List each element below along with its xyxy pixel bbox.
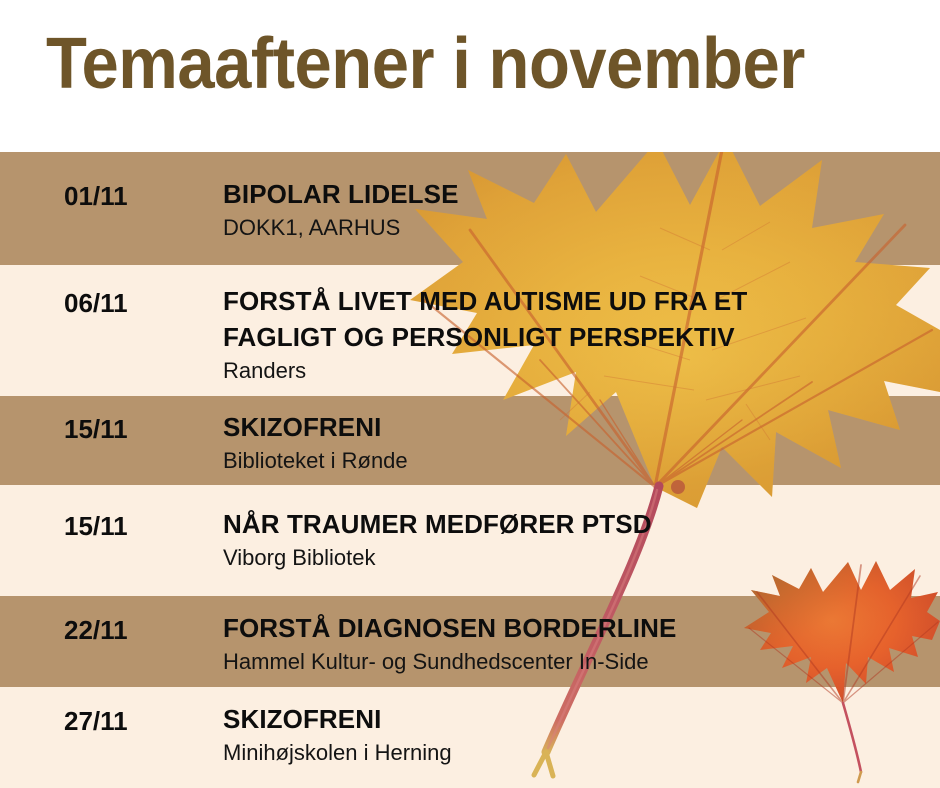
event-title: FORSTÅ DIAGNOSEN BORDERLINE (223, 610, 923, 646)
event-venue: Hammel Kultur- og Sundhedscenter In-Side (223, 647, 923, 677)
event-date: 15/11 (64, 414, 128, 445)
event-details: FORSTÅ LIVET MED AUTISME UD FRA ET FAGLI… (223, 283, 923, 386)
event-details: SKIZOFRENI Minihøjskolen i Herning (223, 701, 923, 768)
event-title: NÅR TRAUMER MEDFØRER PTSD (223, 506, 923, 542)
event-venue: DOKK1, AARHUS (223, 213, 923, 243)
event-details: FORSTÅ DIAGNOSEN BORDERLINE Hammel Kultu… (223, 610, 923, 677)
event-date: 06/11 (64, 288, 128, 319)
event-date: 27/11 (64, 706, 128, 737)
event-date: 22/11 (64, 615, 128, 646)
header-band: Temaaftener i november (0, 0, 940, 152)
event-title: SKIZOFRENI (223, 701, 923, 737)
event-venue: Viborg Bibliotek (223, 543, 923, 573)
event-date: 15/11 (64, 511, 128, 542)
poster-canvas: Temaaftener i november 01/11 BIPOLAR LID… (0, 0, 940, 788)
event-details: SKIZOFRENI Biblioteket i Rønde (223, 409, 923, 476)
event-title: FORSTÅ LIVET MED AUTISME UD FRA ET FAGLI… (223, 283, 923, 355)
event-venue: Randers (223, 356, 923, 386)
event-title: BIPOLAR LIDELSE (223, 176, 923, 212)
event-date: 01/11 (64, 181, 128, 212)
event-details: BIPOLAR LIDELSE DOKK1, AARHUS (223, 176, 923, 243)
page-title: Temaaftener i november (46, 26, 805, 102)
event-title: SKIZOFRENI (223, 409, 923, 445)
event-details: NÅR TRAUMER MEDFØRER PTSD Viborg Bibliot… (223, 506, 923, 573)
event-venue: Biblioteket i Rønde (223, 446, 923, 476)
event-venue: Minihøjskolen i Herning (223, 738, 923, 768)
